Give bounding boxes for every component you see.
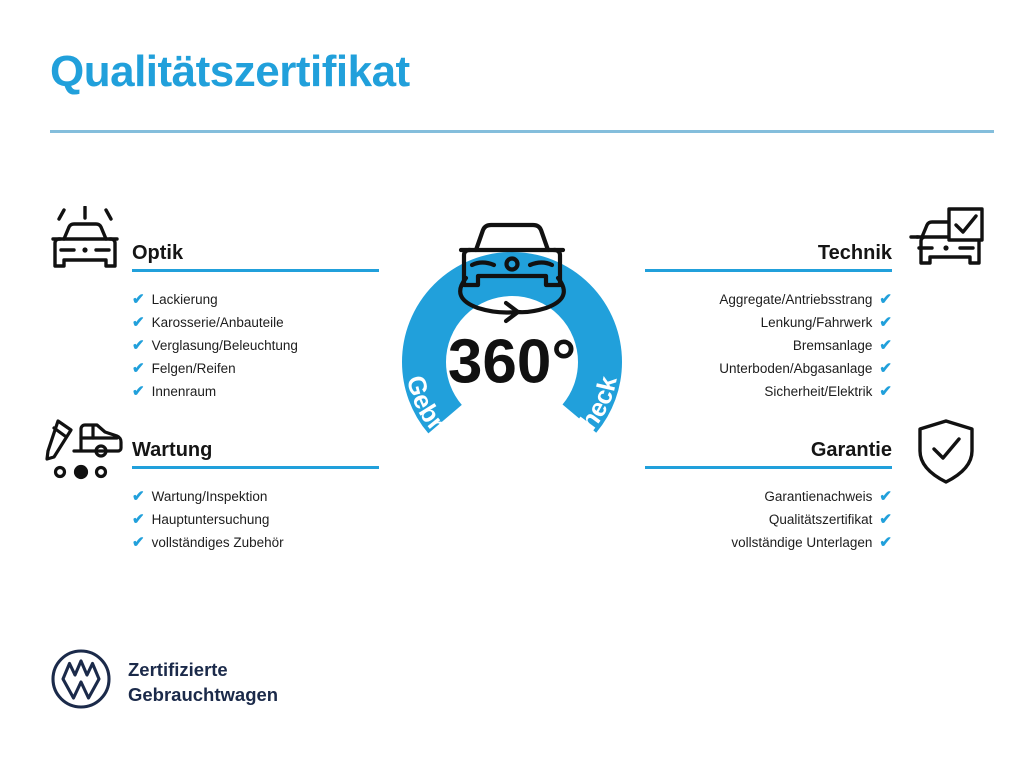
list-item: Aggregate/Antriebsstrang✔ (645, 288, 892, 311)
section-wartung: Wartung ✔Wartung/Inspektion ✔Hauptunters… (132, 437, 379, 554)
section-optik: Optik ✔Lackierung ✔Karosserie/Anbauteile… (132, 240, 379, 403)
list-item: ✔Hauptuntersuchung (132, 508, 379, 531)
section-garantie: Garantie Garantienachweis✔ Qualitätszert… (645, 437, 892, 554)
check-icon: ✔ (879, 384, 892, 399)
list-item-label: Lenkung/Fahrwerk (761, 311, 873, 334)
section-technik-list: Aggregate/Antriebsstrang✔ Lenkung/Fahrwe… (645, 288, 892, 403)
section-optik-head: Optik (132, 240, 379, 274)
check-icon: ✔ (132, 384, 145, 399)
list-item: Sicherheit/Elektrik✔ (645, 380, 892, 403)
list-item-label: Qualitätszertifikat (769, 508, 873, 531)
badge-360-gebrauchtwagen-check: Gebrauchtwagen-Check 360° (374, 196, 650, 486)
list-item: Garantienachweis✔ (645, 485, 892, 508)
pencil-car-service-icon (44, 418, 126, 487)
car-checkbox-icon (908, 207, 986, 282)
list-item-label: Sicherheit/Elektrik (764, 380, 872, 403)
list-item: Unterboden/Abgasanlage✔ (645, 357, 892, 380)
section-garantie-title: Garantie (645, 437, 892, 463)
list-item-label: Karosserie/Anbauteile (152, 311, 284, 334)
badge-center-label: 360° (448, 328, 576, 397)
footer-brand: Zertifizierte Gebrauchtwagen (50, 648, 278, 715)
check-icon: ✔ (879, 292, 892, 307)
check-icon: ✔ (879, 315, 892, 330)
check-icon: ✔ (132, 489, 145, 504)
list-item: ✔Innenraum (132, 380, 379, 403)
list-item: ✔Wartung/Inspektion (132, 485, 379, 508)
list-item-label: Bremsanlage (793, 334, 873, 357)
list-item-label: Innenraum (152, 380, 217, 403)
section-wartung-title: Wartung (132, 437, 379, 463)
check-icon: ✔ (879, 512, 892, 527)
header-divider (50, 130, 994, 133)
list-item: ✔Lackierung (132, 288, 379, 311)
check-icon: ✔ (132, 292, 145, 307)
footer-line-1: Zertifizierte (128, 659, 228, 680)
section-optik-title: Optik (132, 240, 379, 266)
shield-check-icon (912, 418, 980, 491)
list-item: ✔Felgen/Reifen (132, 357, 379, 380)
section-technik-title: Technik (645, 240, 892, 266)
section-wartung-head: Wartung (132, 437, 379, 471)
section-wartung-divider (132, 466, 379, 469)
check-icon: ✔ (132, 512, 145, 527)
section-optik-divider (132, 269, 379, 272)
list-item-label: vollständiges Zubehör (152, 531, 284, 554)
section-garantie-divider (645, 466, 892, 469)
check-icon: ✔ (879, 489, 892, 504)
vw-logo (50, 648, 112, 715)
list-item: ✔Verglasung/Beleuchtung (132, 334, 379, 357)
list-item-label: Hauptuntersuchung (152, 508, 270, 531)
section-garantie-head: Garantie (645, 437, 892, 471)
check-icon: ✔ (879, 361, 892, 376)
check-icon: ✔ (879, 338, 892, 353)
check-icon: ✔ (132, 361, 145, 376)
list-item-label: Wartung/Inspektion (152, 485, 268, 508)
list-item: Lenkung/Fahrwerk✔ (645, 311, 892, 334)
section-optik-list: ✔Lackierung ✔Karosserie/Anbauteile ✔Verg… (132, 288, 379, 403)
list-item: ✔vollständiges Zubehör (132, 531, 379, 554)
list-item-label: Aggregate/Antriebsstrang (719, 288, 872, 311)
list-item-label: Lackierung (152, 288, 218, 311)
list-item: vollständige Unterlagen✔ (645, 531, 892, 554)
list-item: Qualitätszertifikat✔ (645, 508, 892, 531)
list-item-label: Verglasung/Beleuchtung (152, 334, 298, 357)
footer-brand-text: Zertifizierte Gebrauchtwagen (128, 657, 278, 707)
section-wartung-list: ✔Wartung/Inspektion ✔Hauptuntersuchung ✔… (132, 485, 379, 554)
check-icon: ✔ (132, 338, 145, 353)
check-icon: ✔ (132, 315, 145, 330)
check-icon: ✔ (132, 535, 145, 550)
section-technik-divider (645, 269, 892, 272)
list-item-label: vollständige Unterlagen (731, 531, 872, 554)
section-technik: Technik Aggregate/Antriebsstrang✔ Lenkun… (645, 240, 892, 403)
list-item: Bremsanlage✔ (645, 334, 892, 357)
footer-line-2: Gebrauchtwagen (128, 684, 278, 705)
page-title: Qualitätszertifikat (50, 48, 410, 96)
check-icon: ✔ (879, 535, 892, 550)
list-item-label: Unterboden/Abgasanlage (719, 357, 872, 380)
section-technik-head: Technik (645, 240, 892, 274)
section-garantie-list: Garantienachweis✔ Qualitätszertifikat✔ v… (645, 485, 892, 554)
list-item: ✔Karosserie/Anbauteile (132, 311, 379, 334)
car-shine-icon (46, 206, 124, 283)
list-item-label: Garantienachweis (764, 485, 872, 508)
list-item-label: Felgen/Reifen (152, 357, 236, 380)
